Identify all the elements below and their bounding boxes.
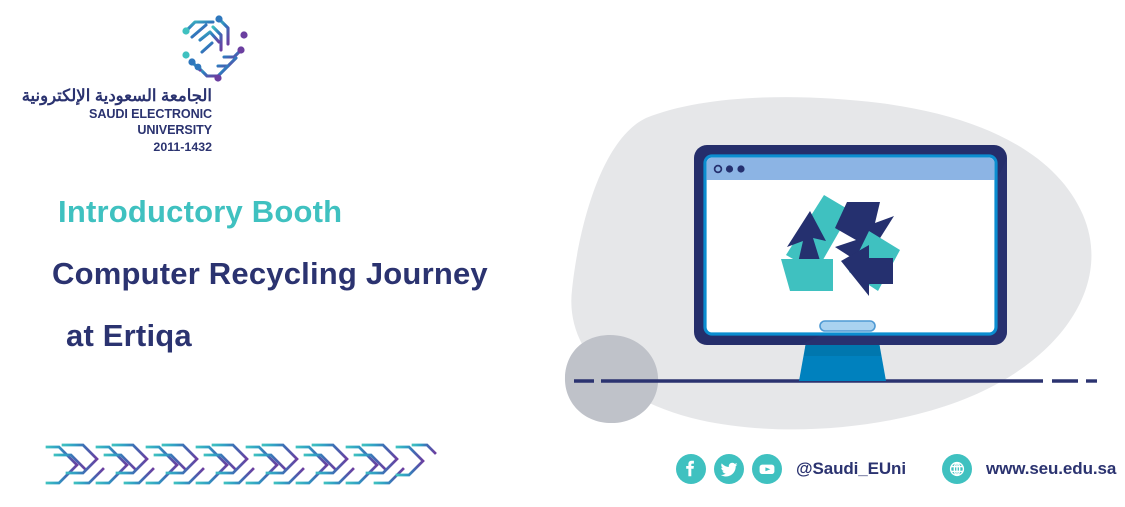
university-name-english: SAUDI ELECTRONIC UNIVERSITY <box>14 106 212 139</box>
globe-icon[interactable] <box>942 454 972 484</box>
recycle-arrow-2-head <box>787 211 826 267</box>
circuit-board-decorative-strip <box>45 437 445 489</box>
monitor-stand <box>799 342 886 381</box>
website-url: www.seu.edu.sa <box>986 459 1116 479</box>
recycle-symbol <box>781 195 900 296</box>
headline-group: Introductory Booth Computer Recycling Jo… <box>0 196 560 351</box>
recycle-arrow-2-body <box>781 259 833 291</box>
headline-line-2: Computer Recycling Journey <box>52 258 560 289</box>
monitor-power-indicator <box>820 321 875 331</box>
monitor-screen-border <box>705 156 996 334</box>
background-circle <box>565 335 658 423</box>
headline-line-1: Introductory Booth <box>58 196 560 227</box>
recycle-arrow-1-body <box>786 195 851 272</box>
window-dot-3 <box>737 165 744 172</box>
university-logo-text: الجامعة السعودية الإلكترونية SAUDI ELECT… <box>14 86 264 157</box>
university-founding-year: 2011-1432 <box>14 139 212 157</box>
monitor-stand-shadow <box>804 342 881 356</box>
university-logo: الجامعة السعودية الإلكترونية SAUDI ELECT… <box>14 8 264 138</box>
window-dot-2 <box>726 165 733 172</box>
seu-hexagon-circuit-logo-mark <box>162 10 258 88</box>
headline-line-3: at Ertiqa <box>66 320 560 351</box>
footer-contact-row: @Saudi_EUni www.seu.edu.sa <box>676 447 1116 491</box>
recycle-arrow-3-head <box>841 245 893 296</box>
monitor-bezel <box>694 145 1007 345</box>
window-titlebar <box>707 158 995 180</box>
youtube-icon[interactable] <box>752 454 782 484</box>
university-name-arabic: الجامعة السعودية الإلكترونية <box>14 86 212 106</box>
recycle-arrow-3-body <box>849 231 900 291</box>
recycle-arrow-1-head <box>835 202 894 265</box>
monitor-bezel-highlight <box>800 158 1007 345</box>
social-handle: @Saudi_EUni <box>796 459 906 479</box>
window-dot-1 <box>715 166 722 173</box>
background-blob <box>571 97 1091 429</box>
twitter-icon[interactable] <box>714 454 744 484</box>
banner-root: الجامعة السعودية الإلكترونية SAUDI ELECT… <box>0 0 1125 507</box>
facebook-icon[interactable] <box>676 454 706 484</box>
social-icon-group <box>676 454 782 484</box>
website-group: www.seu.edu.sa <box>942 454 1116 484</box>
